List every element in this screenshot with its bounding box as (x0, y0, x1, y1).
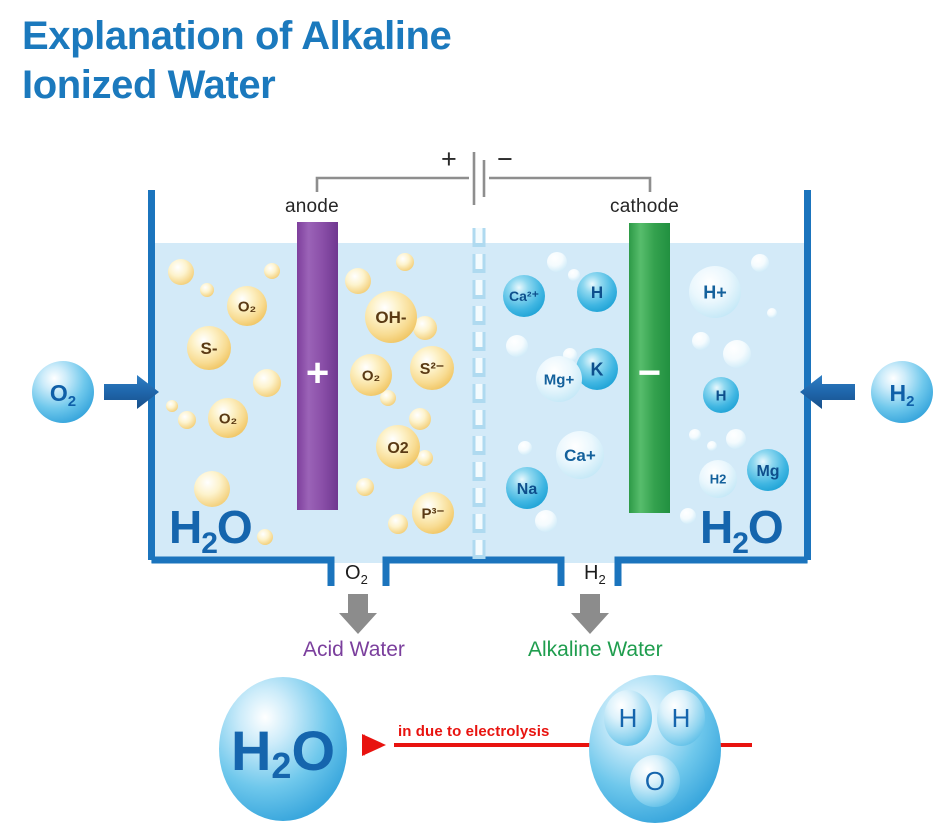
hydrogen-inlet: H2 (800, 361, 933, 423)
ion-label: Mg+ (544, 371, 575, 388)
bubble (506, 335, 528, 357)
ion-label: O₂ (238, 298, 256, 315)
atom-label: H (672, 703, 691, 733)
product-atom: H (604, 690, 652, 746)
battery-symbol (474, 152, 484, 205)
ion-label: S²⁻ (420, 361, 444, 378)
bubble (568, 269, 580, 281)
ion-label: H+ (703, 282, 727, 302)
bubble (253, 369, 281, 397)
diagram-canvas: Explanation of Alkaline Ionized Water (0, 0, 950, 828)
battery-negative-sign: − (497, 146, 513, 173)
ion-label: P³⁻ (422, 505, 445, 522)
left-ion: O₂ (227, 286, 267, 326)
right-ion: Mg (747, 449, 789, 491)
product-atom: O (630, 755, 680, 807)
ion-label: H2 (710, 472, 727, 487)
anode-polarity-sign: + (297, 353, 338, 393)
bubble (680, 508, 696, 524)
ion-label: K (591, 359, 604, 379)
left-ion: S²⁻ (410, 346, 454, 390)
left-ion: OH- (365, 291, 417, 343)
bubble (723, 340, 751, 368)
electrolysis-illustration: O₂S-O₂OH-O₂S²⁻O2P³⁻ Ca²⁺HKNaHMgMg+Ca+H+H… (0, 0, 950, 828)
bubble (689, 429, 701, 441)
product-atom: H (657, 690, 705, 746)
left-ion: S- (187, 326, 231, 370)
right-ion: K (576, 348, 618, 390)
alkaline-outlet-gas-label: H2 (584, 563, 606, 586)
alkaline-outlet-arrow-icon (571, 594, 609, 634)
bubble (200, 283, 214, 297)
right-ion: Na (506, 467, 548, 509)
ion-label: O₂ (362, 367, 380, 384)
oxygen-inlet: O2 (32, 361, 159, 423)
ion-label: OH- (375, 308, 406, 327)
left-ion: O2 (376, 425, 420, 469)
bubble (417, 450, 433, 466)
bubble (707, 441, 717, 451)
right-ion: H2 (699, 460, 737, 498)
atom-label: O (645, 766, 665, 796)
acid-outlet-gas-label: O2 (345, 563, 368, 586)
bubble (547, 252, 567, 272)
acid-water-label: Acid Water (303, 639, 405, 660)
ion-label: S- (201, 339, 218, 358)
battery-positive-sign: + (441, 146, 457, 173)
ion-label: H (591, 283, 603, 302)
bubble (168, 259, 194, 285)
left-ion: O₂ (350, 354, 392, 396)
reaction-product-molecule: HHO (589, 675, 721, 823)
reaction-source-molecule: H2O (219, 677, 347, 821)
ion-label: O₂ (219, 410, 237, 427)
ion-label: Ca²⁺ (509, 288, 539, 304)
right-chamber-water-label: H2O (700, 504, 783, 559)
cathode-polarity-sign: − (629, 353, 670, 393)
bubble (388, 514, 408, 534)
bubble (518, 441, 532, 455)
bubble (166, 400, 178, 412)
right-ion: H+ (689, 266, 741, 318)
alkaline-water-label: Alkaline Water (528, 639, 663, 660)
bubble (692, 332, 710, 350)
bubble (264, 263, 280, 279)
bubble (356, 478, 374, 496)
left-ion: O₂ (208, 398, 248, 438)
anode-label: anode (285, 196, 339, 218)
left-chamber-water-label: H2O (169, 504, 252, 559)
bubble (178, 411, 196, 429)
atom-label: H (619, 703, 638, 733)
electrolysis-annotation: in due to electrolysis (398, 724, 549, 739)
bubble (257, 529, 273, 545)
right-ion: H (703, 377, 739, 413)
right-ion: Ca+ (556, 431, 604, 479)
bubble (345, 268, 371, 294)
left-ion: P³⁻ (412, 492, 454, 534)
ion-label: H (716, 387, 727, 404)
acid-outlet-arrow-icon (339, 594, 377, 634)
right-ion: Ca²⁺ (503, 275, 545, 317)
right-ion: Mg+ (536, 356, 582, 402)
ion-label: O2 (387, 440, 408, 457)
bubble (767, 308, 777, 318)
ion-label: Na (517, 481, 538, 498)
bubble (535, 510, 557, 532)
bubble (409, 408, 431, 430)
cathode-label: cathode (610, 196, 679, 218)
ion-label: Mg (756, 463, 779, 480)
bubble (751, 254, 769, 272)
right-ion: H (577, 272, 617, 312)
bubble (396, 253, 414, 271)
bubble (726, 429, 746, 449)
ion-label: Ca+ (564, 446, 596, 465)
